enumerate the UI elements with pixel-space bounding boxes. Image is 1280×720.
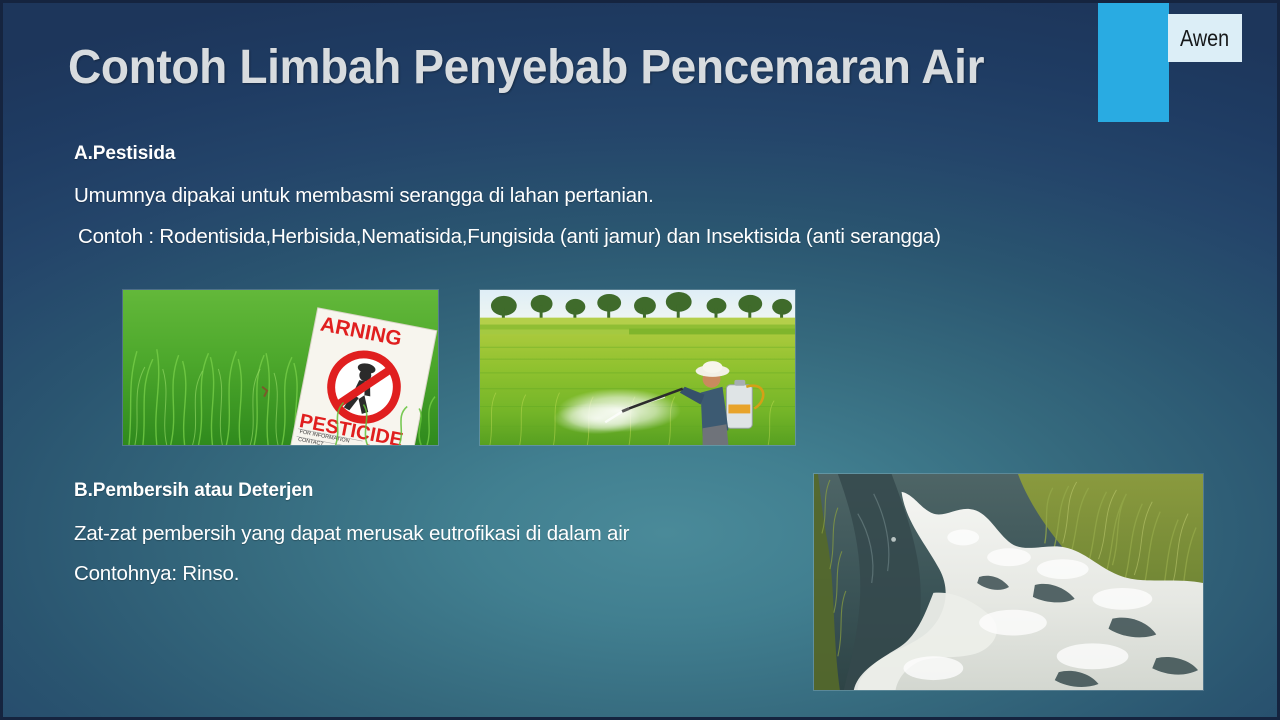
section-a-line-1: Umumnya dipakai untuk membasmi serangga … xyxy=(74,184,654,208)
author-badge-label: Awen xyxy=(1180,25,1229,52)
section-a-line-2: Contoh : Rodentisida,Herbisida,Nematisid… xyxy=(78,225,941,249)
author-badge: Awen xyxy=(1168,14,1242,62)
spraying-illustration xyxy=(480,290,795,445)
accent-rectangle xyxy=(1098,0,1169,122)
pesticide-sign-illustration: ARNING xyxy=(123,290,438,445)
page-title: Contoh Limbah Penyebab Pencemaran Air xyxy=(68,40,1047,95)
section-b-heading: B.Pembersih atau Deterjen xyxy=(74,480,313,502)
image-farmer-spraying-pesticide xyxy=(479,289,796,446)
slide-canvas: Awen Contoh Limbah Penyebab Pencemaran A… xyxy=(0,0,1280,720)
image-pesticide-warning-sign: ARNING xyxy=(122,289,439,446)
section-b-line-1: Zat-zat pembersih yang dapat merusak eut… xyxy=(74,522,629,546)
section-b-line-2: Contohnya: Rinso. xyxy=(74,562,239,586)
foam-river-illustration xyxy=(814,474,1203,690)
image-detergent-foam-river xyxy=(813,473,1204,691)
section-a-heading: A.Pestisida xyxy=(74,143,175,165)
